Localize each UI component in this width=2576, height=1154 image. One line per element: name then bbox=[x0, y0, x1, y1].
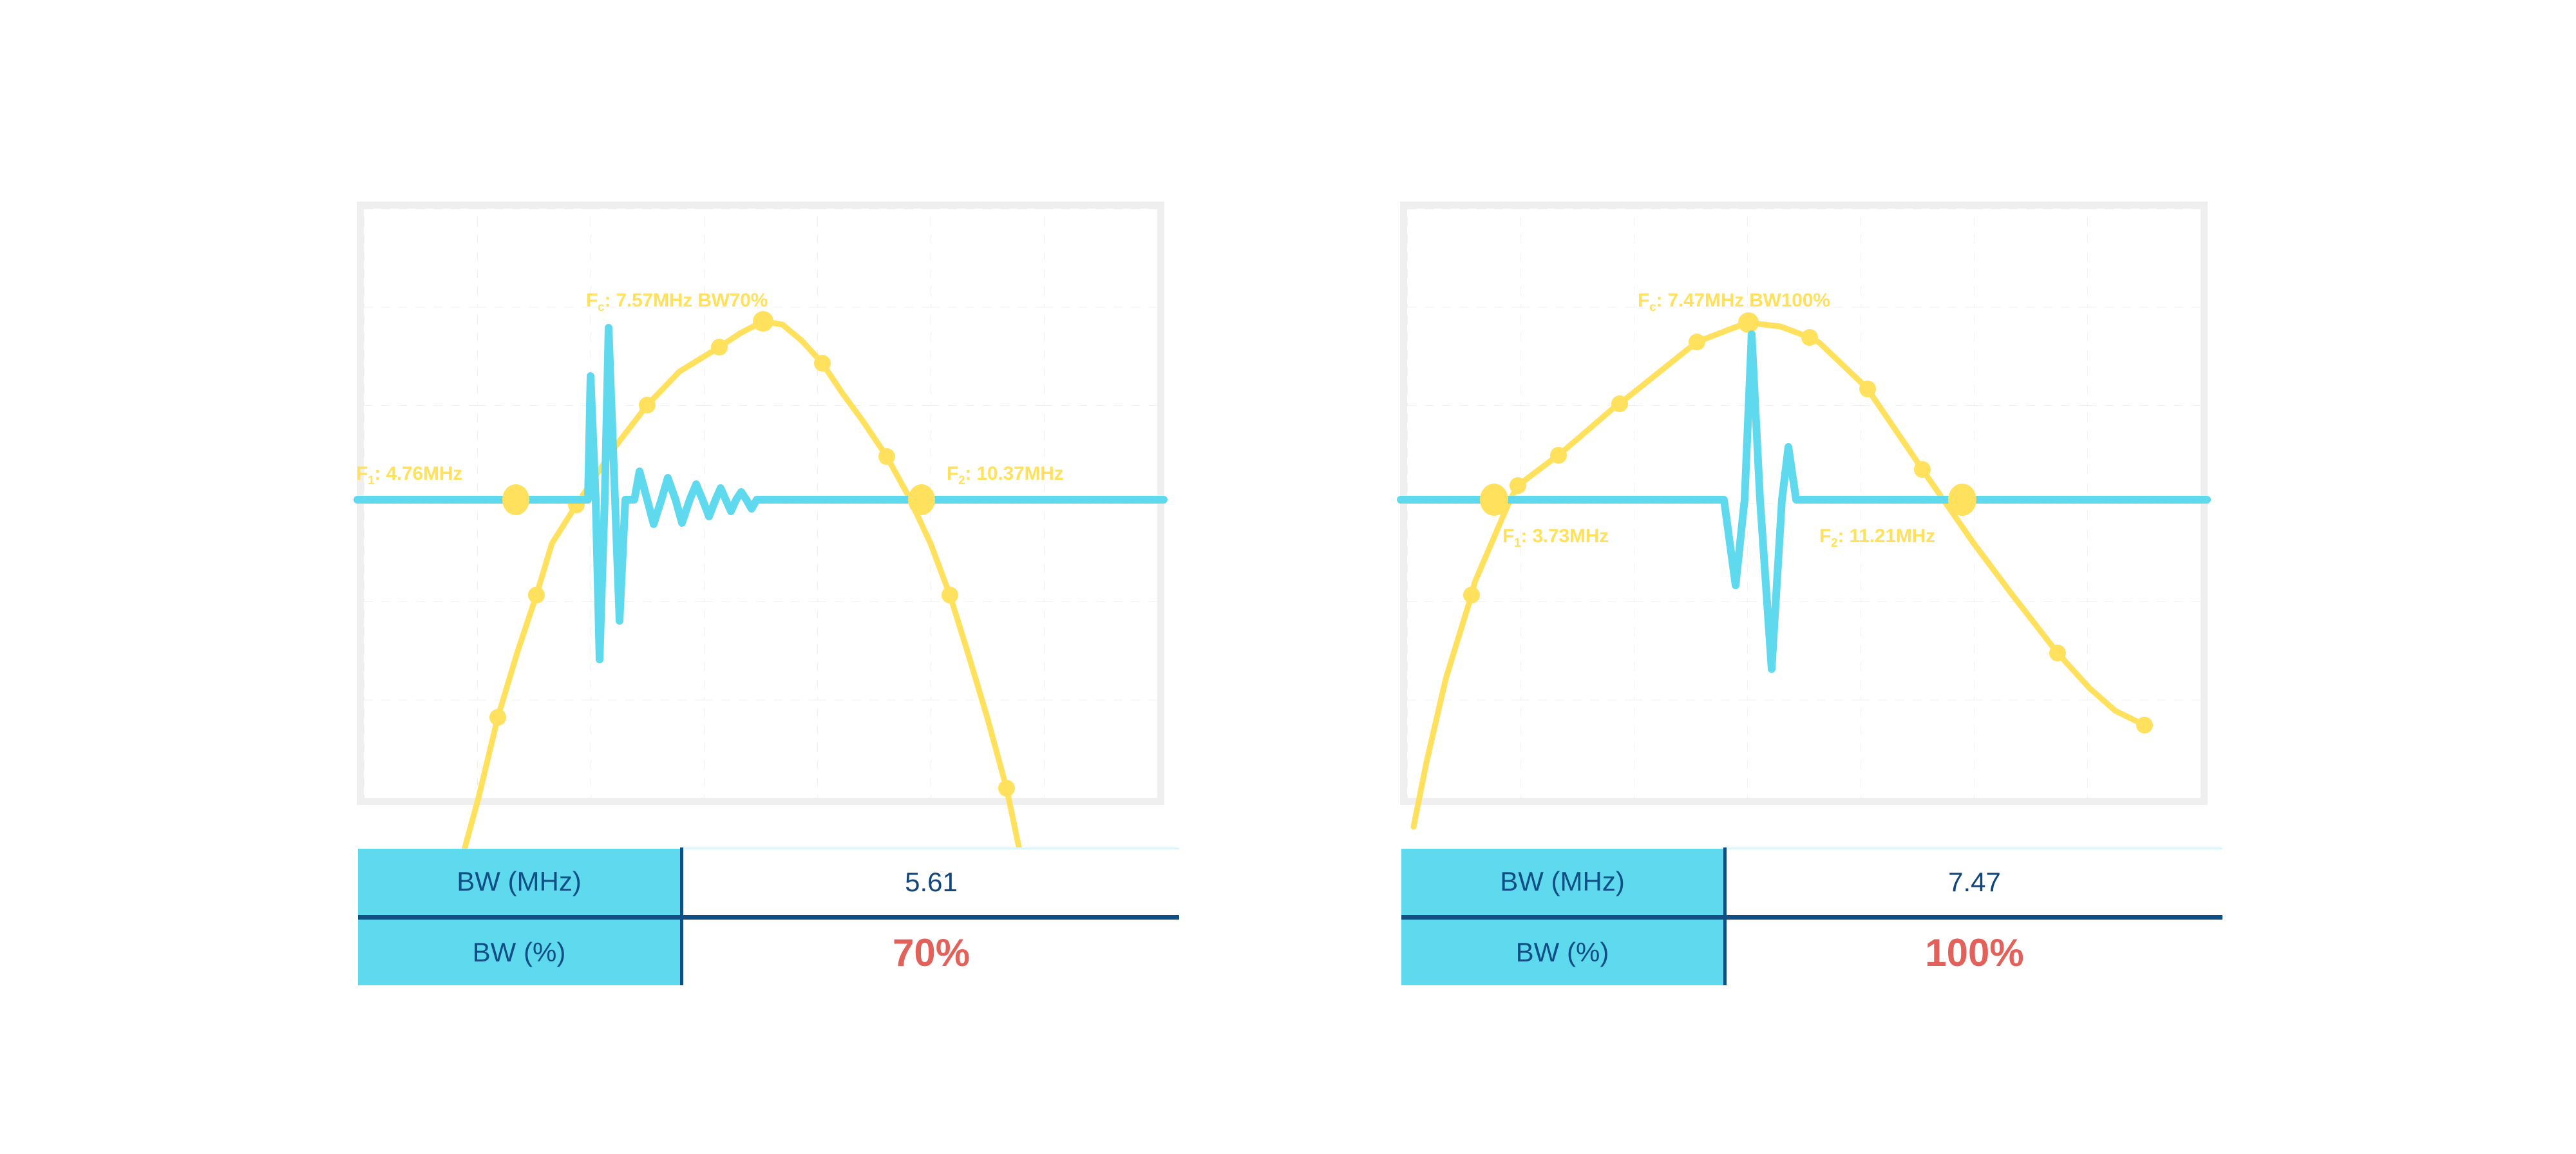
chart-frame-100: Fc: 7.47MHz BW100% F1: 3.73MHz F2: 11.21… bbox=[1400, 202, 2208, 805]
center-frequency-label-100: Fc: 7.47MHz BW100% bbox=[1638, 290, 1830, 312]
fc-symbol: F bbox=[1638, 290, 1649, 311]
f1-subscript: 1 bbox=[368, 474, 374, 487]
bw-pct-value: 100% bbox=[1725, 918, 2223, 986]
upper-cutoff-label-100: F2: 11.21MHz bbox=[1819, 525, 1935, 547]
f1-symbol: F bbox=[356, 463, 368, 484]
bw-pct-value: 70% bbox=[682, 918, 1180, 986]
table-row: BW (MHz) 7.47 bbox=[1401, 849, 2222, 918]
fc-subscript: c bbox=[1649, 301, 1656, 314]
bw-mhz-header: BW (MHz) bbox=[358, 849, 682, 918]
bw-pct-header: BW (%) bbox=[358, 918, 682, 986]
upper-cutoff-label-70: F2: 10.37MHz bbox=[947, 463, 1064, 485]
bw-mhz-value: 5.61 bbox=[682, 849, 1180, 918]
chart-frame-70: Fc: 7.57MHz BW70% F1: 4.76MHz F2: 10.37M… bbox=[357, 202, 1164, 805]
chart-plot-area-100: Fc: 7.47MHz BW100% F1: 3.73MHz F2: 11.21… bbox=[1407, 209, 2201, 798]
f2-subscript: 2 bbox=[958, 474, 965, 487]
table-row: BW (%) 70% bbox=[358, 918, 1179, 986]
f1-text: : 3.73MHz bbox=[1521, 525, 1609, 547]
fc-text: : 7.57MHz BW70% bbox=[605, 290, 768, 311]
f2-symbol: F bbox=[947, 463, 958, 484]
f2-text: : 11.21MHz bbox=[1838, 525, 1935, 547]
f2-subscript: 2 bbox=[1831, 536, 1837, 550]
f2-symbol: F bbox=[1819, 525, 1831, 547]
f1-symbol: F bbox=[1502, 525, 1514, 547]
bandwidth-table-100: BW (MHz) 7.47 BW (%) 100% bbox=[1401, 847, 2222, 985]
bw-mhz-header: BW (MHz) bbox=[1401, 849, 1725, 918]
lower-cutoff-label-100: F1: 3.73MHz bbox=[1502, 525, 1609, 547]
chart-plot-area-70: Fc: 7.57MHz BW70% F1: 4.76MHz F2: 10.37M… bbox=[364, 209, 1157, 798]
bw-mhz-value: 7.47 bbox=[1725, 849, 2223, 918]
measurement-panel-70: Fc: 7.57MHz BW70% F1: 4.76MHz F2: 10.37M… bbox=[353, 0, 1177, 1154]
bandwidth-table-70: BW (MHz) 5.61 BW (%) 70% bbox=[358, 847, 1179, 985]
fc-subscript: c bbox=[598, 301, 604, 314]
lower-cutoff-label-70: F1: 4.76MHz bbox=[356, 463, 462, 485]
table-row: BW (MHz) 5.61 bbox=[358, 849, 1179, 918]
table-row: BW (%) 100% bbox=[1401, 918, 2222, 986]
f2-text: : 10.37MHz bbox=[965, 463, 1064, 484]
figure-canvas: Fc: 7.57MHz BW70% F1: 4.76MHz F2: 10.37M… bbox=[0, 0, 2576, 1154]
measurement-panel-100: Fc: 7.47MHz BW100% F1: 3.73MHz F2: 11.21… bbox=[1396, 0, 2221, 1154]
center-frequency-label-70: Fc: 7.57MHz BW70% bbox=[586, 290, 768, 312]
fc-text: : 7.47MHz BW100% bbox=[1656, 290, 1830, 311]
f1-text: : 4.76MHz bbox=[375, 463, 463, 484]
f1-subscript: 1 bbox=[1514, 536, 1520, 550]
fc-symbol: F bbox=[586, 290, 598, 311]
bw-pct-header: BW (%) bbox=[1401, 918, 1725, 986]
